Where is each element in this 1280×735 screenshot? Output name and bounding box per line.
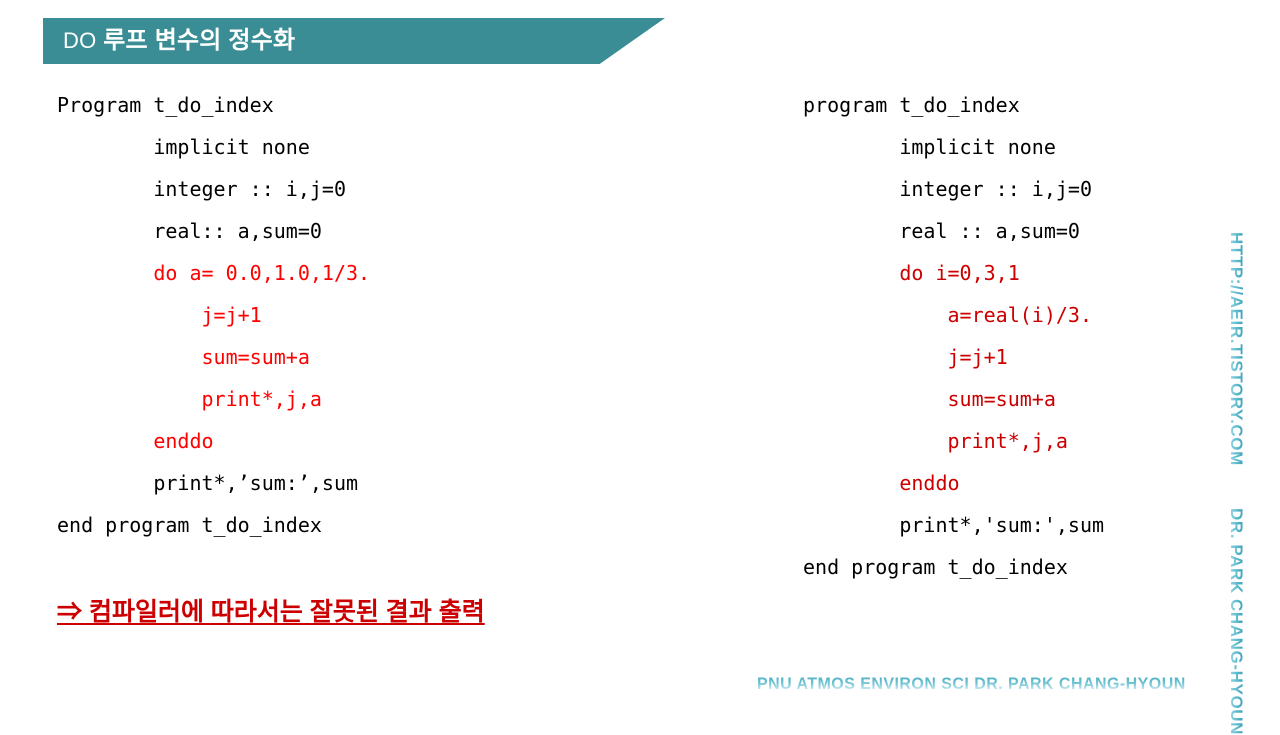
code-line: j=j+1 — [57, 294, 370, 336]
code-line: enddo — [803, 462, 1104, 504]
code-line: implicit none — [803, 126, 1104, 168]
code-line: integer :: i,j=0 — [803, 168, 1104, 210]
code-line: print*,j,a — [57, 378, 370, 420]
code-block-right: program t_do_index implicit none integer… — [803, 84, 1104, 588]
code-line: program t_do_index — [803, 84, 1104, 126]
code-line: Program t_do_index — [57, 84, 370, 126]
title-latin-part: DO — [63, 28, 96, 53]
footer-credit: PNU ATMOS ENVIRON SCI DR. PARK CHANG-HYO… — [757, 674, 1186, 694]
code-line: real:: a,sum=0 — [57, 210, 370, 252]
code-line: sum=sum+a — [57, 336, 370, 378]
code-line: print*,j,a — [803, 420, 1104, 462]
page-title: DO 루프 변수의 정수화 — [43, 29, 295, 53]
code-line: a=real(i)/3. — [803, 294, 1104, 336]
code-line: do i=0,3,1 — [803, 252, 1104, 294]
code-line: sum=sum+a — [803, 378, 1104, 420]
code-line: enddo — [57, 420, 370, 462]
conclusion-note: ⇒ 컴파일러에 따라서는 잘못된 결과 출력 — [57, 596, 527, 629]
code-line: j=j+1 — [803, 336, 1104, 378]
code-block-left: Program t_do_index implicit none integer… — [57, 84, 370, 546]
sidebar-url-text: HTTP://AEIR.TISTORY.COM — [1226, 232, 1246, 466]
code-line: print*,'sum:',sum — [803, 504, 1104, 546]
title-banner: DO 루프 변수의 정수화 — [43, 18, 665, 64]
code-line: integer :: i,j=0 — [57, 168, 370, 210]
title-korean-part: 루프 변수의 정수화 — [96, 27, 295, 54]
code-line: implicit none — [57, 126, 370, 168]
code-line: end program t_do_index — [57, 504, 370, 546]
code-line: real :: a,sum=0 — [803, 210, 1104, 252]
code-line: end program t_do_index — [803, 546, 1104, 588]
code-line: print*,’sum:’,sum — [57, 462, 370, 504]
sidebar-author-text: DR. PARK CHANG-HYOUN — [1226, 508, 1246, 735]
code-line: do a= 0.0,1.0,1/3. — [57, 252, 370, 294]
